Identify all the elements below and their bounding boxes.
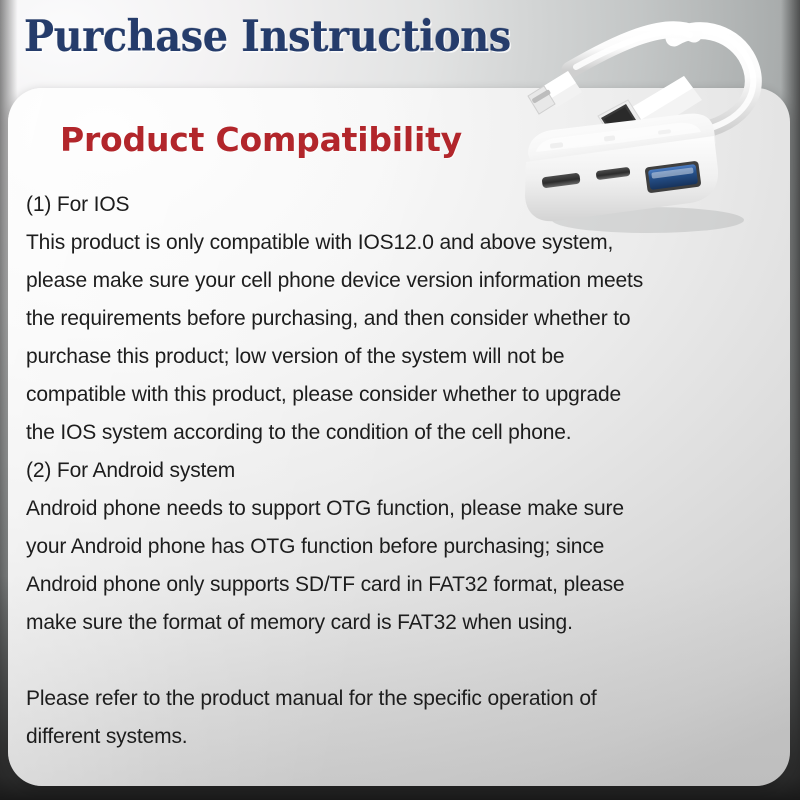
page-title: Purchase Instructions [24, 11, 511, 63]
body-line: the IOS system according to the conditio… [26, 414, 788, 452]
body-line: compatible with this product, please con… [26, 376, 788, 414]
body-line: your Android phone has OTG function befo… [26, 528, 788, 566]
body-line: Please refer to the product manual for t… [26, 680, 788, 718]
body-line: the requirements before purchasing, and … [26, 300, 788, 338]
lightning-cable [570, 30, 694, 70]
body-line: (2) For Android system [26, 452, 788, 490]
body-line: Android phone needs to support OTG funct… [26, 490, 788, 528]
card-reader-adapter-photo [498, 0, 800, 244]
body-copy: (1) For IOS This product is only compati… [26, 186, 788, 756]
body-line: purchase this product; low version of th… [26, 338, 788, 376]
body-line: Android phone only supports SD/TF card i… [26, 566, 788, 604]
body-line: different systems. [26, 718, 788, 756]
body-line: make sure the format of memory card is F… [26, 604, 788, 642]
product-instruction-image: Purchase Instructions Product Compatibil… [0, 0, 800, 800]
section-heading-product-compatibility: Product Compatibility [60, 119, 462, 161]
paragraph-spacer [26, 642, 788, 680]
body-line: please make sure your cell phone device … [26, 262, 788, 300]
